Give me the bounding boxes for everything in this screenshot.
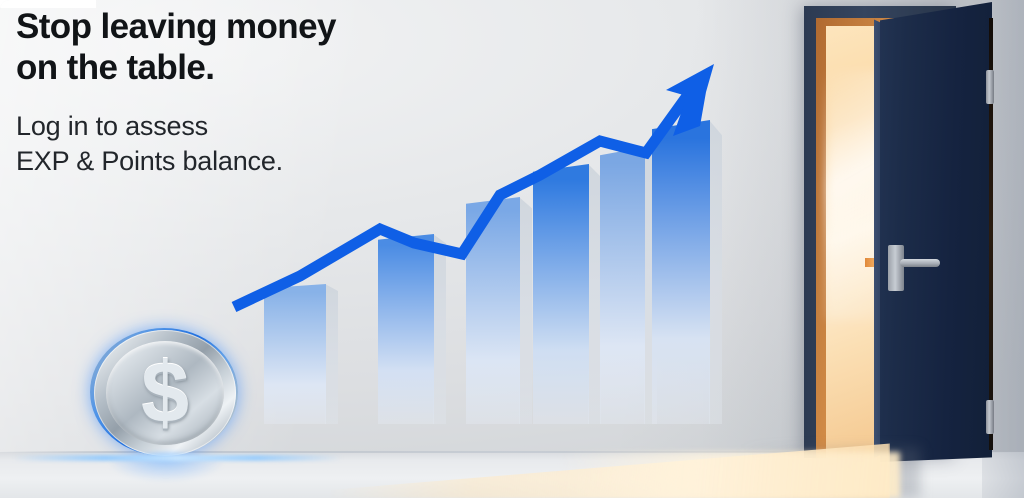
bar-front (378, 234, 434, 424)
coin-rim: $ (90, 328, 238, 456)
card-corner-highlight (0, 0, 96, 8)
bar-side-face (519, 197, 532, 424)
page-title: Stop leaving money on the table. (16, 6, 446, 89)
bar-front (466, 197, 520, 424)
bar-side-face (433, 234, 446, 424)
subcopy-line-2: EXP & Points balance. (16, 144, 446, 180)
bar-1 (264, 284, 326, 424)
promo-subtitle: Log in to assess EXP & Points balance. (16, 109, 446, 180)
open-door (796, 0, 1024, 498)
bar-5 (600, 147, 645, 424)
door-hinge-top (986, 70, 994, 104)
coin-face: $ (94, 330, 236, 456)
door-strike-plate (865, 258, 874, 267)
door-handle-icon (900, 259, 940, 267)
bar-side-face (325, 284, 338, 424)
bar-side-face (709, 120, 722, 424)
bar-4 (533, 164, 589, 424)
door-hinge-bottom (986, 400, 994, 434)
dollar-coin: $ (82, 320, 246, 460)
bar-3 (466, 197, 520, 424)
door-handle-plate (888, 245, 904, 291)
coin-light-streak (12, 455, 342, 461)
headline-line-2: on the table. (16, 47, 446, 88)
subcopy-line-1: Log in to assess (16, 111, 208, 141)
bar-6 (652, 120, 710, 424)
door-panel (880, 2, 992, 462)
bar-front (533, 164, 589, 424)
bar-front (600, 147, 645, 424)
promo-copy: Stop leaving money on the table. Log in … (16, 0, 446, 207)
promo-banner: $ Stop leaving money on the table. Log i… (0, 0, 1024, 498)
bar-front (652, 120, 710, 424)
bar-2 (378, 234, 434, 424)
headline-line-1: Stop leaving money (16, 7, 336, 46)
bar-front (264, 284, 326, 424)
light-spill-near-door (560, 452, 900, 498)
dollar-sign-icon: $ (94, 350, 236, 436)
